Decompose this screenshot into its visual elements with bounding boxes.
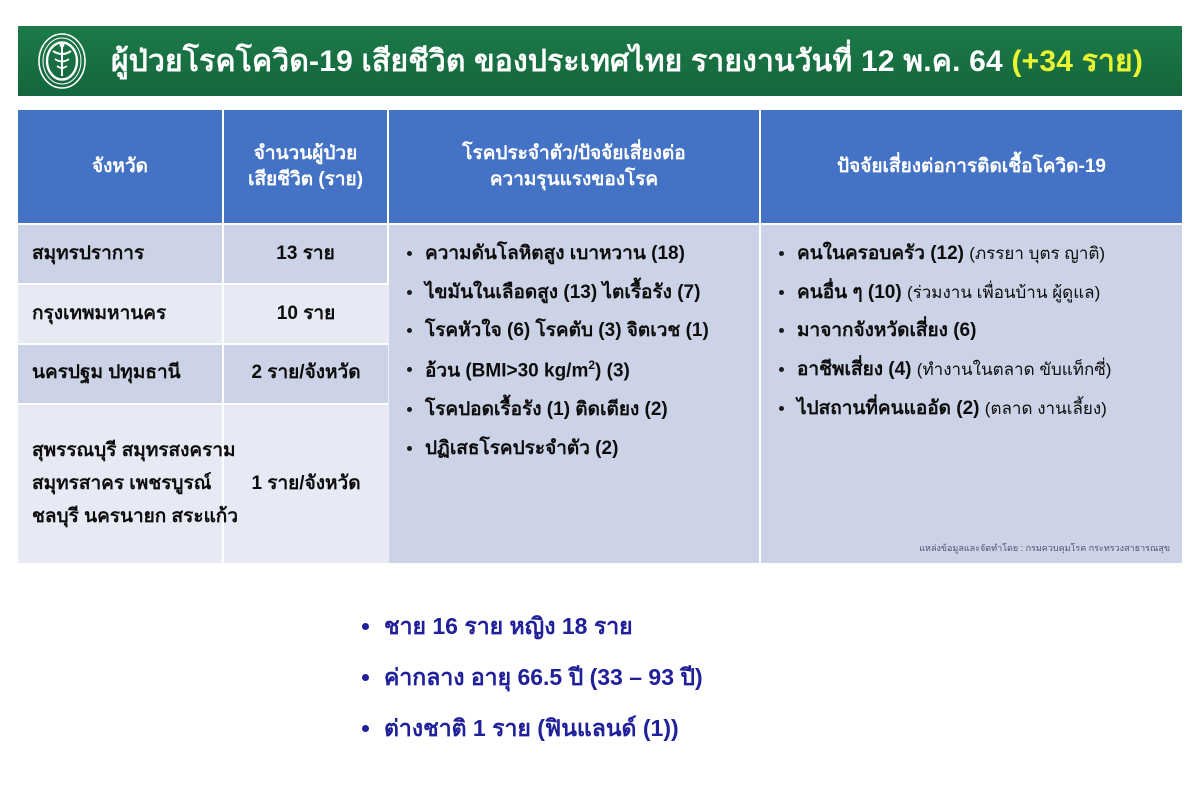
column-header-death-count: จำนวนผู้ป่วย เสียชีวิต (ราย)	[223, 110, 388, 224]
risk-text: คนอื่น ๆ (10)	[797, 282, 902, 303]
risk-subtext: (ภรรยา บุตร ญาติ)	[969, 244, 1105, 263]
list-item: ไขมันในเลือดสูง (13) ไตเรื้อรัง (7)	[403, 280, 749, 306]
cell-province: นครปฐม ปทุมธานี	[18, 344, 223, 404]
list-item: ไปสถานที่คนแออัด (2) (ตลาด งานเลี้ยง)	[775, 396, 1172, 422]
deaths-table-container: จังหวัด จำนวนผู้ป่วย เสียชีวิต (ราย) โรค…	[18, 110, 1182, 565]
table-row: สมุทรปราการ 13 ราย ความดันโลหิตสูง เบาหว…	[18, 224, 1182, 284]
province-name: สมุทรปราการ	[32, 240, 212, 269]
cell-death-count: 2 ราย/จังหวัด	[223, 344, 388, 404]
province-name: ชลบุรี นครนายก สระแก้ว	[32, 500, 212, 533]
moph-caduceus-emblem	[32, 31, 92, 91]
list-item: ปฏิเสธโรคประจำตัว (2)	[403, 436, 749, 462]
summary-line-sex: ชาย 16 ราย หญิง 18 ราย	[360, 612, 1060, 641]
list-item: อาชีพเสี่ยง (4) (ทำงานในตลาด ขับแท็กซี่)	[775, 357, 1172, 383]
cell-province: กรุงเทพมหานคร	[18, 284, 223, 344]
cell-province: สุพรรณบุรี สมุทรสงคราม สมุทรสาคร เพชรบูร…	[18, 404, 223, 564]
list-item: อ้วน (BMI>30 kg/m2) (3)	[403, 357, 749, 384]
column-header-conditions-line1: โรคประจำตัว/ปัจจัยเสี่ยงต่อ	[395, 141, 753, 167]
risk-text: อาชีพเสี่ยง (4)	[797, 359, 912, 380]
cell-infection-risk-factors: คนในครอบครัว (12) (ภรรยา บุตร ญาติ) คนอื…	[760, 224, 1182, 564]
cell-underlying-conditions: ความดันโลหิตสูง เบาหวาน (18) ไขมันในเลือ…	[388, 224, 760, 564]
cell-death-count: 10 ราย	[223, 284, 388, 344]
column-header-province: จังหวัด	[18, 110, 223, 224]
list-item: มาจากจังหวัดเสี่ยง (6)	[775, 318, 1172, 344]
province-name: นครปฐม ปทุมธานี	[32, 359, 212, 388]
province-name: กรุงเทพมหานคร	[32, 300, 212, 329]
list-item: โรคหัวใจ (6) โรคตับ (3) จิตเวช (1)	[403, 318, 749, 344]
page-title-text: ผู้ป่วยโรคโควิด-19 เสียชีวิต ของประเทศไท…	[111, 45, 1003, 78]
page-title: ผู้ป่วยโรคโควิด-19 เสียชีวิต ของประเทศไท…	[92, 45, 1182, 78]
list-item: โรคปอดเรื้อรัง (1) ติดเตียง (2)	[403, 397, 749, 423]
deaths-table: จังหวัด จำนวนผู้ป่วย เสียชีวิต (ราย) โรค…	[18, 110, 1182, 565]
condition-text: ปฏิเสธโรคประจำตัว (2)	[425, 438, 618, 459]
list-item: คนอื่น ๆ (10) (ร่วมงาน เพื่อนบ้าน ผู้ดูแ…	[775, 280, 1172, 306]
summary-line-median-age: ค่ากลาง อายุ 66.5 ปี (33 – 93 ปี)	[360, 663, 1060, 692]
summary-section: ชาย 16 ราย หญิง 18 ราย ค่ากลาง อายุ 66.5…	[360, 612, 1060, 764]
list-item: คนในครอบครัว (12) (ภรรยา บุตร ญาติ)	[775, 241, 1172, 267]
condition-text: โรคหัวใจ (6) โรคตับ (3) จิตเวช (1)	[425, 320, 709, 341]
conditions-list: ความดันโลหิตสูง เบาหวาน (18) ไขมันในเลือ…	[403, 241, 749, 461]
column-header-death-count-line1: จำนวนผู้ป่วย	[230, 141, 381, 167]
condition-text: ไขมันในเลือดสูง (13) ไตเรื้อรัง (7)	[425, 282, 700, 303]
new-deaths-badge: (+34 ราย)	[1011, 45, 1143, 78]
risk-subtext: (ทำงานในตลาด ขับแท็กซี่)	[917, 360, 1112, 379]
condition-text: โรคปอดเรื้อรัง (1) ติดเตียง (2)	[425, 399, 668, 420]
risk-text: มาจากจังหวัดเสี่ยง (6)	[797, 320, 976, 341]
header-bar: ผู้ป่วยโรคโควิด-19 เสียชีวิต ของประเทศไท…	[18, 26, 1182, 96]
column-header-conditions-line2: ความรุนแรงของโรค	[395, 167, 753, 193]
condition-text: ความดันโลหิตสูง เบาหวาน (18)	[425, 243, 685, 264]
cell-province: สมุทรปราการ	[18, 224, 223, 284]
province-name: สุพรรณบุรี สมุทรสงคราม	[32, 434, 212, 467]
condition-text-after: ) (3)	[595, 360, 630, 381]
risk-factors-list: คนในครอบครัว (12) (ภรรยา บุตร ญาติ) คนอื…	[775, 241, 1172, 421]
table-header-row: จังหวัด จำนวนผู้ป่วย เสียชีวิต (ราย) โรค…	[18, 110, 1182, 224]
source-attribution: แหล่งข้อมูลและจัดทำโดย : กรมควบคุมโรค กร…	[919, 542, 1170, 556]
risk-subtext: (ตลาด งานเลี้ยง)	[985, 399, 1107, 418]
column-header-conditions: โรคประจำตัว/ปัจจัยเสี่ยงต่อ ความรุนแรงขอ…	[388, 110, 760, 224]
risk-subtext: (ร่วมงาน เพื่อนบ้าน ผู้ดูแล)	[907, 283, 1100, 302]
risk-text: คนในครอบครัว (12)	[797, 243, 964, 264]
cell-death-count: 13 ราย	[223, 224, 388, 284]
cell-death-count: 1 ราย/จังหวัด	[223, 404, 388, 564]
column-header-risk-factors: ปัจจัยเสี่ยงต่อการติดเชื้อโควิด-19	[760, 110, 1182, 224]
condition-text: อ้วน (BMI>30 kg/m	[425, 360, 588, 381]
province-name: สมุทรสาคร เพชรบูรณ์	[32, 467, 212, 500]
risk-text: ไปสถานที่คนแออัด (2)	[797, 398, 980, 419]
list-item: ความดันโลหิตสูง เบาหวาน (18)	[403, 241, 749, 267]
summary-line-foreign-nationals: ต่างชาติ 1 ราย (ฟินแลนด์ (1))	[360, 714, 1060, 743]
column-header-death-count-line2: เสียชีวิต (ราย)	[230, 167, 381, 193]
